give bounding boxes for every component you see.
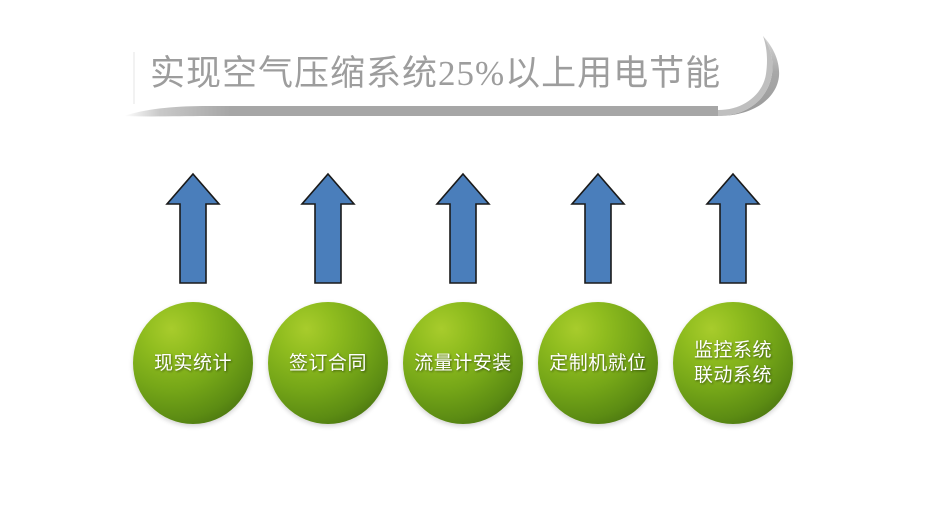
- step-circle-1[interactable]: 现实统计: [133, 302, 253, 424]
- arrow-up-icon-1: [165, 172, 221, 285]
- arrow-up-icon-4: [570, 172, 626, 285]
- step-label-2: 签订合同: [285, 351, 371, 376]
- step-label-5: 监控系统 联动系统: [690, 338, 776, 388]
- step-circle-4[interactable]: 定制机就位: [538, 302, 658, 424]
- step-label-3: 流量计安装: [410, 351, 516, 376]
- step-circle-5[interactable]: 监控系统 联动系统: [673, 302, 793, 424]
- step-label-4: 定制机就位: [545, 351, 651, 376]
- arrow-up-icon-2: [300, 172, 356, 285]
- step-circle-2[interactable]: 签订合同: [268, 302, 388, 424]
- arrow-up-icon-3: [435, 172, 491, 285]
- step-circle-3[interactable]: 流量计安装: [403, 302, 523, 424]
- step-label-1: 现实统计: [150, 351, 236, 376]
- slide-canvas: 实现空气压缩系统25%以上用电节能 现实统计 签订合同 流量计安装 定制机就位: [0, 0, 945, 529]
- arrow-up-icon-5: [705, 172, 761, 285]
- page-title: 实现空气压缩系统25%以上用电节能: [150, 48, 730, 100]
